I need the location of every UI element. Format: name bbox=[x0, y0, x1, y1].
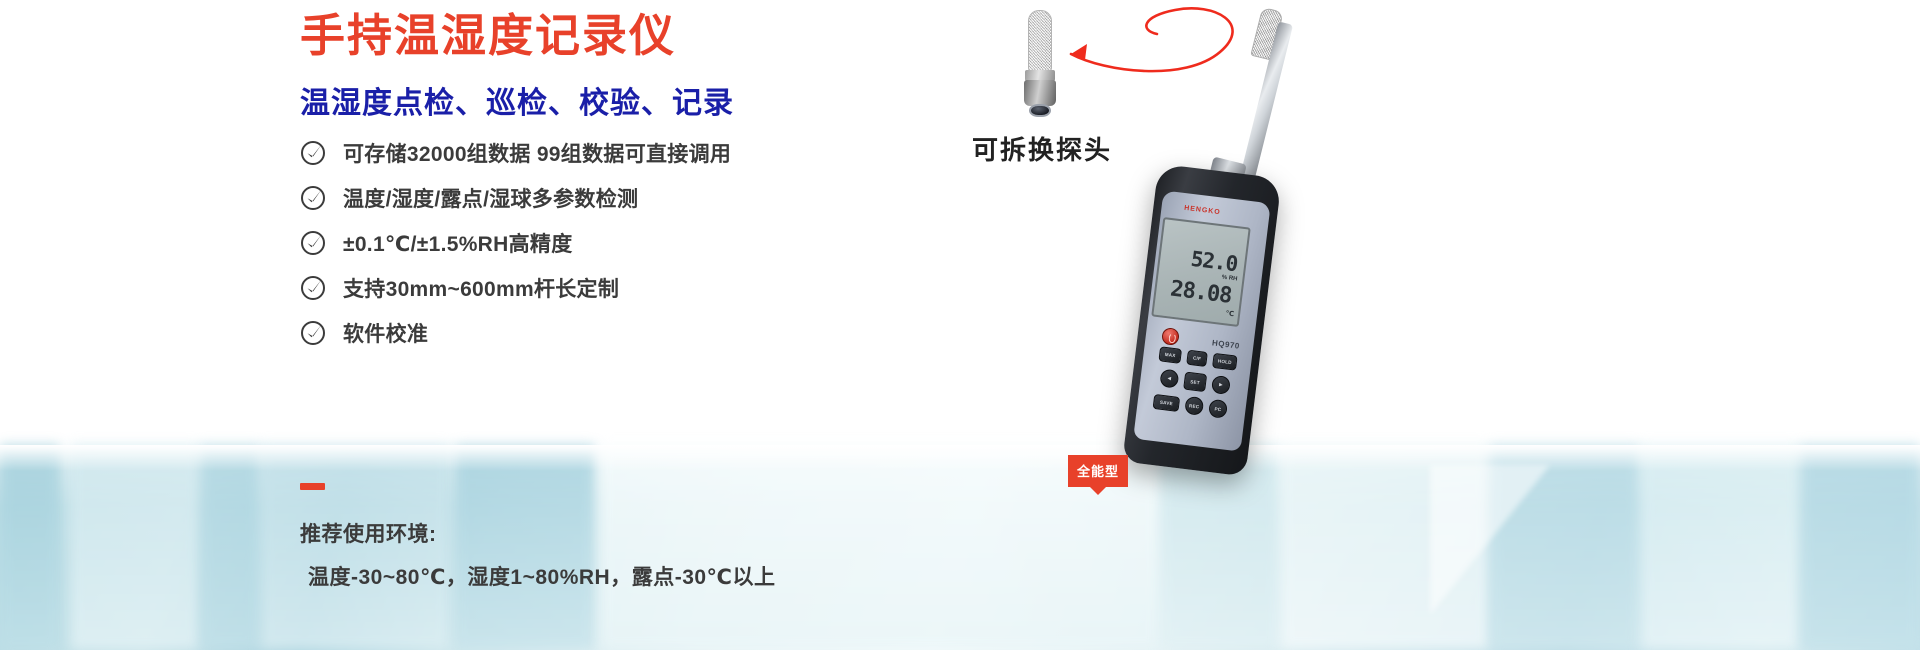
background-photo-band bbox=[0, 445, 1920, 650]
list-item: 可存储32000组数据 99组数据可直接调用 bbox=[300, 130, 731, 175]
device-keypad: MAX C/F HOLD ◀ SET ▶ SAVE REC PC bbox=[1147, 346, 1262, 454]
lcd-display: 52.0 % RH 28.08 ℃ bbox=[1151, 217, 1251, 327]
key-right[interactable]: ▶ bbox=[1211, 375, 1231, 395]
check-circle-icon bbox=[300, 230, 326, 256]
key-unit[interactable]: C/F bbox=[1186, 350, 1208, 367]
bg-shape bbox=[70, 445, 200, 650]
band-fade-overlay bbox=[0, 445, 1920, 471]
bg-shape bbox=[200, 445, 260, 650]
key-hold[interactable]: HOLD bbox=[1212, 353, 1238, 371]
list-item-label: 软件校准 bbox=[343, 318, 428, 348]
product-banner: 手持温湿度记录仪 温湿度点检、巡检、校验、记录 可存储32000组数据 99组数… bbox=[0, 0, 1920, 650]
key-read[interactable]: REC bbox=[1184, 396, 1204, 416]
environment-title: 推荐使用环境: bbox=[300, 518, 776, 548]
temperature-unit: ℃ bbox=[1225, 309, 1234, 318]
key-pc[interactable]: PC bbox=[1208, 399, 1228, 419]
bg-shape bbox=[1640, 445, 1800, 650]
key-setrec[interactable]: SET bbox=[1183, 372, 1207, 393]
list-item: 支持30mm~600mm杆长定制 bbox=[300, 265, 731, 310]
feature-list: 可存储32000组数据 99组数据可直接调用 温度/湿度/露点/湿球多参数检测 … bbox=[300, 130, 731, 355]
check-circle-icon bbox=[300, 320, 326, 346]
list-item-label: 支持30mm~600mm杆长定制 bbox=[343, 273, 619, 303]
key-left[interactable]: ◀ bbox=[1159, 369, 1179, 389]
key-maxmin[interactable]: MAX bbox=[1158, 346, 1182, 364]
list-item: ±0.1℃/±1.5%RH高精度 bbox=[300, 220, 731, 265]
key-save[interactable]: SAVE bbox=[1153, 394, 1181, 412]
list-item: 温度/湿度/露点/湿球多参数检测 bbox=[300, 175, 731, 220]
list-item-label: ±0.1℃/±1.5%RH高精度 bbox=[343, 228, 573, 258]
page-subtitle: 温湿度点检、巡检、校验、记录 bbox=[300, 78, 734, 122]
humidity-unit: % RH bbox=[1221, 275, 1237, 283]
bg-shape bbox=[1800, 445, 1920, 650]
page-title: 手持温湿度记录仪 bbox=[300, 8, 676, 64]
bg-highlight-triangle bbox=[1430, 465, 1550, 615]
list-item: 软件校准 bbox=[300, 310, 731, 355]
divider-dash bbox=[300, 483, 325, 490]
temperature-reading: 28.08 bbox=[1169, 276, 1233, 308]
product-instrument: HENGKO 52.0 % RH 28.08 ℃ HQ970 MAX C/F H… bbox=[1040, 10, 1360, 530]
humidity-reading: 52.0 bbox=[1190, 247, 1239, 276]
status-badge: 全能型 bbox=[1068, 455, 1128, 487]
check-circle-icon bbox=[300, 185, 326, 211]
check-circle-icon bbox=[300, 140, 326, 166]
bg-shape bbox=[0, 445, 60, 650]
check-circle-icon bbox=[300, 275, 326, 301]
environment-block: 推荐使用环境: 温度-30~80℃，湿度1~80%RH，露点-30℃以上 bbox=[300, 518, 776, 591]
list-item-label: 温度/湿度/露点/湿球多参数检测 bbox=[343, 183, 638, 213]
list-item-label: 可存储32000组数据 99组数据可直接调用 bbox=[343, 138, 731, 168]
environment-spec: 温度-30~80℃，湿度1~80%RH，露点-30℃以上 bbox=[300, 561, 776, 591]
